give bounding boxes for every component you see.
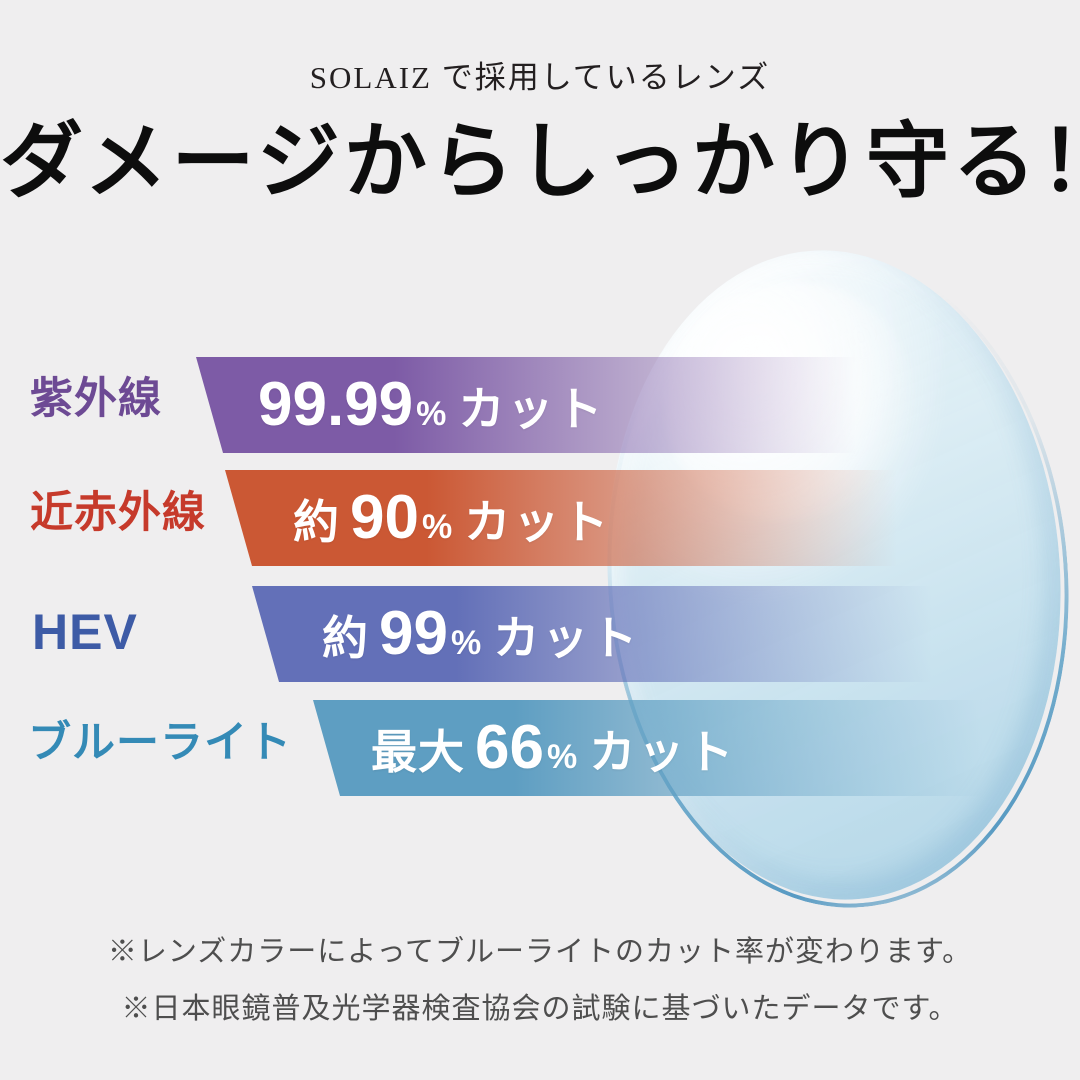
bar-value-number: 66	[475, 717, 544, 779]
bar-value-percent: %	[451, 626, 481, 660]
footnote-1: ※レンズカラーによってブルーライトのカット率が変わります。	[0, 938, 1080, 967]
bar-chart: 紫外線99.99%カット近赤外線約90%カットHEV約99%カットブルーライト最…	[0, 0, 1080, 1080]
bar-value: 約90%カット	[293, 487, 611, 549]
bar-value-percent: %	[547, 740, 577, 774]
footnotes: ※レンズカラーによってブルーライトのカット率が変わります。 ※日本眼鏡普及光学器…	[0, 938, 1080, 1024]
bar-value-suffix: カット	[589, 729, 736, 775]
bar-value: 約99%カット	[322, 603, 640, 665]
bar-category-label: HEV	[32, 607, 138, 657]
bar-shape: 99.99%カット	[196, 357, 856, 453]
bar-value: 最大66%カット	[371, 717, 736, 779]
bar-category-label: 近赤外線	[30, 492, 206, 535]
footnote-2: ※日本眼鏡普及光学器検査協会の試験に基づいたデータです。	[0, 995, 1080, 1024]
bar-shape: 最大66%カット	[313, 700, 983, 796]
bar-category-label: 紫外線	[30, 378, 162, 421]
bar-shape: 約90%カット	[225, 470, 897, 566]
bar-value-prefix: 約	[322, 615, 369, 661]
bar-label-wrap: 最大66%カット	[313, 700, 983, 796]
bar-value-suffix: カット	[493, 615, 640, 661]
bar-value-prefix: 最大	[371, 729, 465, 775]
bar-category-label: ブルーライト	[28, 722, 292, 765]
bar-value-number: 99.99	[258, 374, 413, 436]
bar-value-percent: %	[416, 397, 446, 431]
bar-label-wrap: 約90%カット	[225, 470, 897, 566]
bar-value-number: 99	[379, 603, 448, 665]
bar-label-wrap: 99.99%カット	[196, 357, 856, 453]
bar-value-prefix: 約	[293, 499, 340, 545]
bar-value-suffix: カット	[458, 386, 605, 432]
bar-value-number: 90	[350, 487, 419, 549]
bar-value-suffix: カット	[464, 499, 611, 545]
bar-label-wrap: 約99%カット	[252, 586, 932, 682]
infographic-canvas: SOLAIZ で採用しているレンズ ダメージからしっかり守る！ 紫外線99.99…	[0, 0, 1080, 1080]
bar-value: 99.99%カット	[258, 374, 605, 436]
bar-shape: 約99%カット	[252, 586, 932, 682]
bar-value-percent: %	[422, 510, 452, 544]
